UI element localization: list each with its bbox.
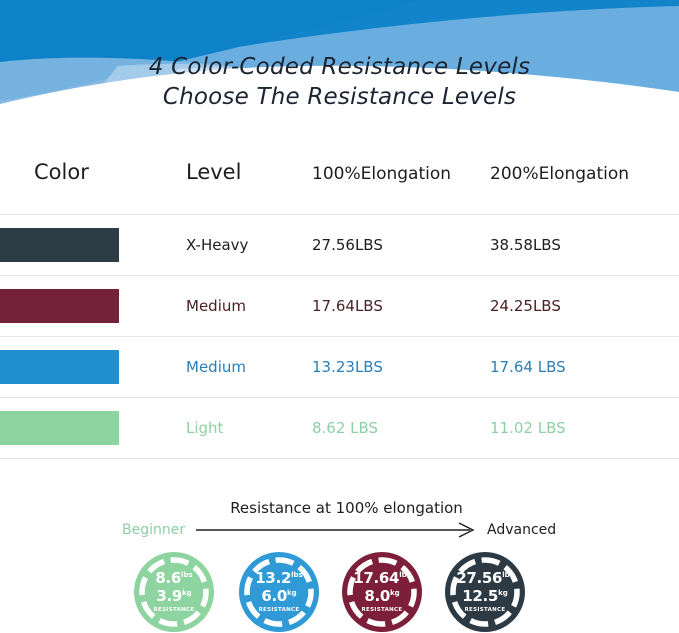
cell-level: Medium <box>186 358 246 376</box>
dial-ring-graphic <box>341 551 423 633</box>
dial-ring-graphic <box>133 551 215 633</box>
cell-100-elongation: 17.64LBS <box>312 297 383 315</box>
column-header-level: Level <box>186 160 241 184</box>
scale-caption: Resistance at 100% elongation <box>0 499 679 517</box>
resistance-dial: 8.6lbs3.9kgRESISTANCE <box>133 551 215 633</box>
color-swatch <box>0 411 119 445</box>
dial-ring-graphic <box>444 551 526 633</box>
table-body: X-Heavy27.56LBS38.58LBSMedium17.64LBS24.… <box>0 215 679 459</box>
table-row: Medium17.64LBS24.25LBS <box>0 276 679 337</box>
cell-200-elongation: 38.58LBS <box>490 236 561 254</box>
banner-background-graphic <box>0 0 679 112</box>
resistance-dial: 17.64lbs8.0kgRESISTANCE <box>341 551 423 633</box>
color-swatch <box>0 350 119 384</box>
cell-100-elongation: 13.23LBS <box>312 358 383 376</box>
resistance-levels-table: Color Level 100%Elongation 200%Elongatio… <box>0 112 679 459</box>
cell-level: X-Heavy <box>186 236 248 254</box>
color-swatch <box>0 228 119 262</box>
cell-200-elongation: 24.25LBS <box>490 297 561 315</box>
table-row: X-Heavy27.56LBS38.58LBS <box>0 215 679 276</box>
cell-200-elongation: 17.64 LBS <box>490 358 566 376</box>
resistance-dial: 13.2lbs6.0kgRESISTANCE <box>238 551 320 633</box>
resistance-dial: 27.56lbs12.5kgRESISTANCE <box>444 551 526 633</box>
color-swatch <box>0 289 119 323</box>
scale-arrow-icon <box>196 522 478 538</box>
scale-end-label: Advanced <box>487 522 556 538</box>
column-header-200-elongation: 200%Elongation <box>490 164 629 184</box>
table-header-row: Color Level 100%Elongation 200%Elongatio… <box>0 112 679 215</box>
scale-start-label: Beginner <box>122 522 185 538</box>
cell-100-elongation: 27.56LBS <box>312 236 383 254</box>
column-header-100-elongation: 100%Elongation <box>312 164 451 184</box>
resistance-scale: Resistance at 100% elongation Beginner A… <box>0 499 679 544</box>
cell-200-elongation: 11.02 LBS <box>490 419 566 437</box>
cell-level: Light <box>186 419 223 437</box>
resistance-dials: 8.6lbs3.9kgRESISTANCE13.2lbs6.0kgRESISTA… <box>0 551 679 633</box>
cell-level: Medium <box>186 297 246 315</box>
resistance-scale-section: Resistance at 100% elongation Beginner A… <box>0 459 679 633</box>
dial-ring-graphic <box>238 551 320 633</box>
table-row: Light8.62 LBS11.02 LBS <box>0 398 679 459</box>
header-banner: 4 Color-Coded Resistance Levels Choose T… <box>0 0 679 112</box>
table-row: Medium13.23LBS17.64 LBS <box>0 337 679 398</box>
cell-100-elongation: 8.62 LBS <box>312 419 378 437</box>
column-header-color: Color <box>34 160 89 184</box>
